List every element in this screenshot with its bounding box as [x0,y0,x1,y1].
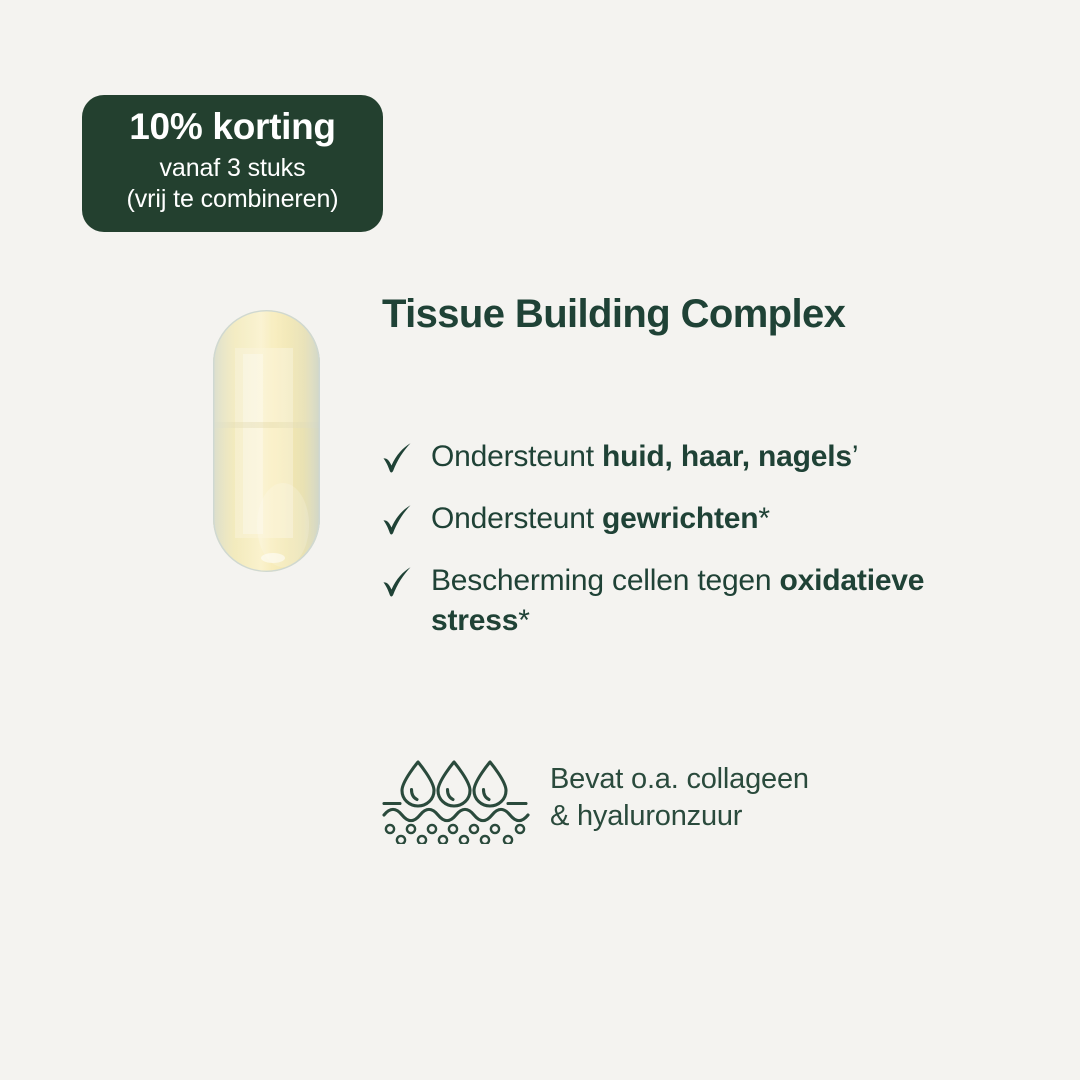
benefit-text: Bescherming cellen tegen oxidatieve stre… [431,561,1022,643]
benefit-text: Ondersteunt gewrichten* [431,499,770,540]
discount-subtext: vanaf 3 stuks (vrij te combineren) [127,153,339,215]
check-icon [382,503,412,537]
benefit-item: Ondersteunt gewrichten* [382,499,1022,540]
benefit-lead: Ondersteunt [431,440,602,473]
ingredient-caption-line-1: Bevat o.a. collageen [550,761,809,798]
ingredient-feature: Bevat o.a. collageen & hyaluronzuur [380,752,809,844]
benefit-item: Ondersteunt huid, haar, nagels’ [382,437,1022,478]
benefit-text: Ondersteunt huid, haar, nagels’ [431,437,858,478]
hydration-droplets-icon [380,752,532,844]
product-title: Tissue Building Complex [382,292,1022,336]
ingredient-caption-line-2: & hyaluronzuur [550,798,809,835]
discount-subtext-line-2: (vrij te combineren) [127,184,339,215]
benefit-trail: * [518,604,529,637]
discount-subtext-line-1: vanaf 3 stuks [127,153,339,184]
benefit-list: Ondersteunt huid, haar, nagels’ Onderste… [382,437,1022,642]
discount-badge: 10% korting vanaf 3 stuks (vrij te combi… [82,95,383,232]
benefit-lead: Ondersteunt [431,502,602,535]
benefit-emphasis: gewrichten [602,502,758,535]
discount-headline: 10% korting [129,108,335,146]
capsule-image [213,310,320,572]
benefit-item: Bescherming cellen tegen oxidatieve stre… [382,561,1022,643]
benefit-emphasis: huid, haar, nagels [602,440,852,473]
check-icon [382,565,412,599]
ingredient-caption: Bevat o.a. collageen & hyaluronzuur [550,761,809,835]
product-info: Tissue Building Complex [382,292,1022,336]
check-icon [382,441,412,475]
benefit-lead: Bescherming cellen tegen [431,564,780,597]
benefit-trail: ’ [852,440,858,473]
benefit-trail: * [758,502,769,535]
